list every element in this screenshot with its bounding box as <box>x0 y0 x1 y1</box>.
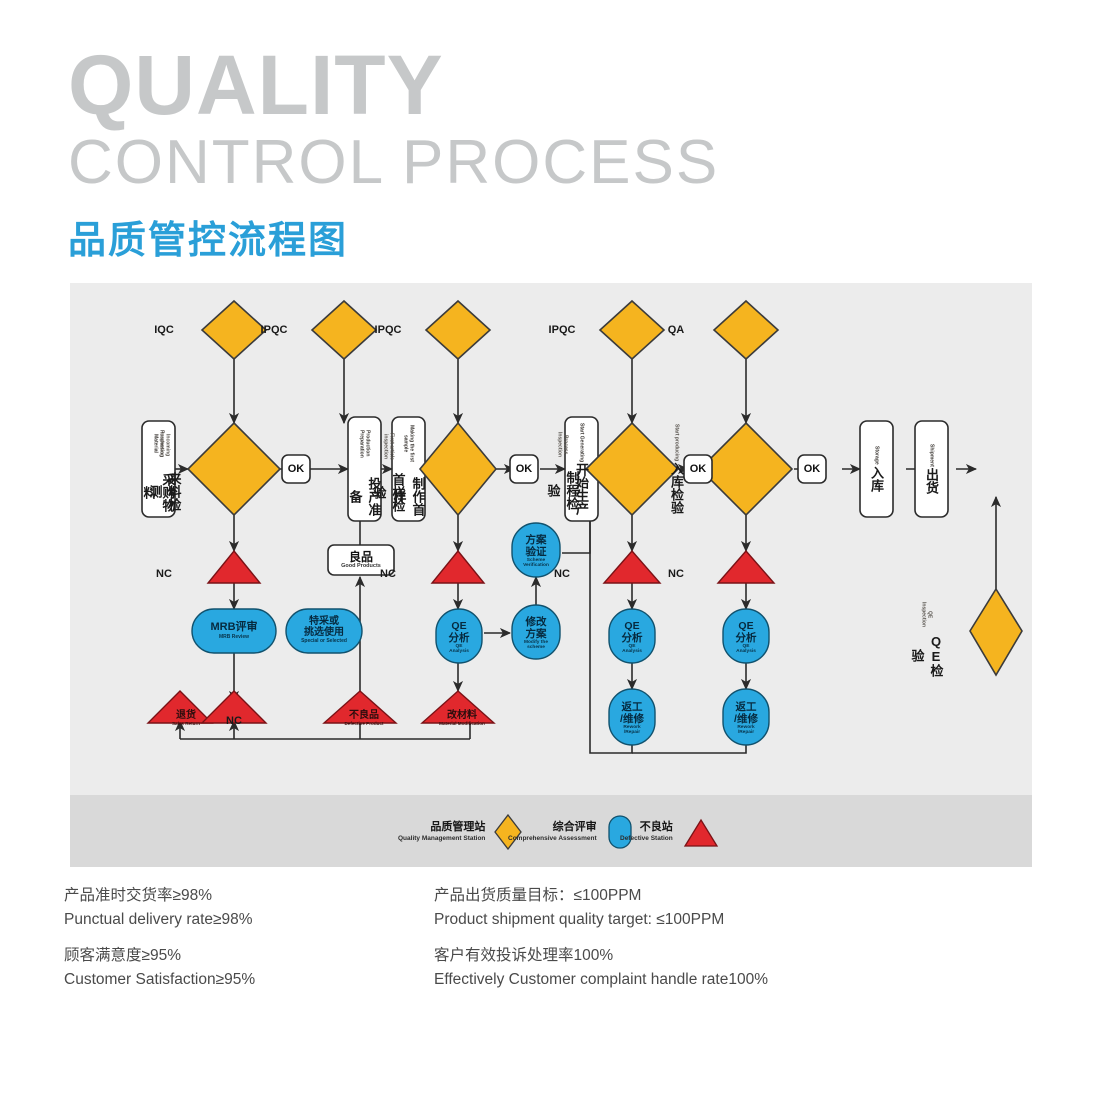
kpi-punctual-delivery: 产品准时交货率≥98% Punctual delivery rate≥98% <box>64 884 414 932</box>
node-ok-1[interactable] <box>282 455 310 483</box>
node-good-products[interactable] <box>328 545 394 575</box>
node-qe-analysis-3[interactable] <box>723 609 769 663</box>
kpi-shipment-quality: 产品出货质量目标：≤100PPM Product shipment qualit… <box>434 884 854 932</box>
node-mrb-review[interactable] <box>192 609 276 653</box>
node-qe-analysis-1[interactable] <box>436 609 482 663</box>
station-ipqc-1[interactable] <box>312 301 376 359</box>
kpi-customer-satisfaction: 顾客满意度≥95% Customer Satisfaction≥95% <box>64 944 414 992</box>
node-ok-3[interactable] <box>684 455 712 483</box>
node-qe-inspection[interactable] <box>970 589 1022 675</box>
node-ok-2[interactable] <box>510 455 538 483</box>
node-modify-scheme[interactable] <box>512 605 560 659</box>
node-storage-inspection[interactable] <box>700 423 792 515</box>
station-ipqc-3[interactable] <box>600 301 664 359</box>
node-rework-repair-2[interactable] <box>723 689 769 745</box>
station-qa[interactable] <box>714 301 778 359</box>
node-scheme-verification[interactable] <box>512 523 560 577</box>
node-process-inspection[interactable] <box>586 423 678 515</box>
node-ok-4[interactable] <box>798 455 826 483</box>
legend-defective-station: 不良站 Defective Station <box>620 812 721 852</box>
node-nc-4[interactable] <box>718 551 774 583</box>
title-chinese: 品质管控流程图 <box>68 209 719 264</box>
node-shipment[interactable] <box>915 421 948 517</box>
node-qe-analysis-2[interactable] <box>609 609 655 663</box>
node-purchasing-material[interactable] <box>142 421 175 517</box>
node-defective-product[interactable] <box>324 691 396 723</box>
legend-quality-management-station: 品质管理站 Quality Management Station <box>398 812 523 852</box>
page-header: QUALITY CONTROL PROCESS 品质管控流程图 <box>68 46 719 264</box>
flow-shapes <box>142 301 1022 745</box>
kpi-complaint-handle-rate: 客户有效投诉处理率100% Effectively Customer compl… <box>434 944 894 992</box>
node-storage[interactable] <box>860 421 893 517</box>
title-control-process: CONTROL PROCESS <box>68 130 719 195</box>
node-first-article-inspection[interactable] <box>420 423 496 515</box>
node-nc-5[interactable] <box>202 691 266 723</box>
node-sales-return[interactable] <box>148 691 212 723</box>
node-nc-1[interactable] <box>208 551 260 583</box>
node-special-or-selected[interactable] <box>286 609 362 653</box>
node-incoming-inspection[interactable] <box>188 423 280 515</box>
legend-triangle-icon <box>681 812 721 852</box>
node-material-modification[interactable] <box>422 691 494 723</box>
station-ipqc-2[interactable] <box>426 301 490 359</box>
node-nc-3[interactable] <box>604 551 660 583</box>
title-quality: QUALITY <box>68 46 719 126</box>
node-nc-2[interactable] <box>432 551 484 583</box>
node-rework-repair-1[interactable] <box>609 689 655 745</box>
node-production-preparation[interactable] <box>348 417 381 521</box>
station-iqc[interactable] <box>202 301 266 359</box>
flowchart-canvas <box>70 283 1032 795</box>
legend-comprehensive-assessment: 综合评审 Comprehensive Assessment <box>508 812 635 852</box>
